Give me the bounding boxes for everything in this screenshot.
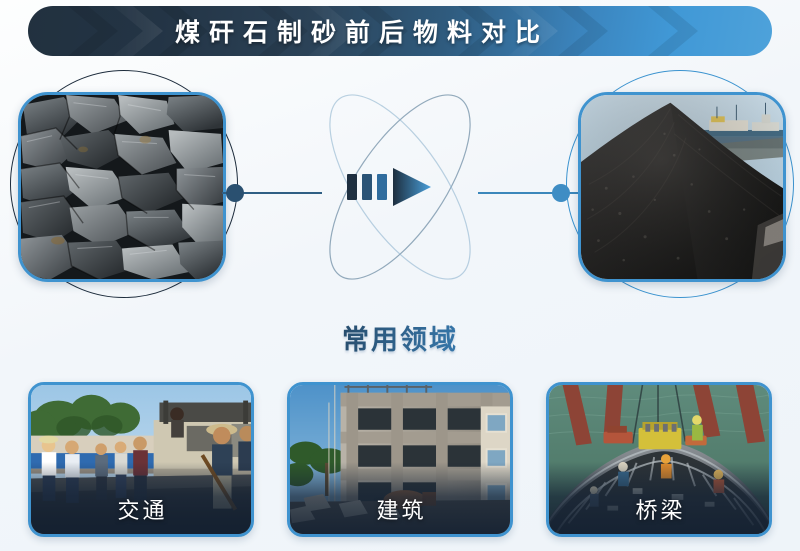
application-label: 桥梁	[549, 493, 769, 525]
before-after-comparison	[0, 62, 800, 312]
application-card-transportation[interactable]: 交通	[28, 382, 254, 537]
application-card-construction[interactable]: 建筑	[287, 382, 513, 537]
title-banner: 煤矸石制砂前后物料对比	[28, 6, 772, 56]
application-label: 交通	[31, 493, 251, 525]
coal-gangue-raw-rocks-icon	[21, 95, 223, 280]
page-title: 煤矸石制砂前后物料对比	[28, 6, 772, 56]
processed-black-sand-pile-icon	[581, 95, 783, 280]
after-photo-card	[578, 92, 786, 282]
before-photo-card	[18, 92, 226, 282]
process-arrow-icon	[347, 168, 431, 206]
infographic-root: 煤矸石制砂前后物料对比	[0, 0, 800, 551]
connector-dot-right-icon	[552, 184, 570, 202]
process-transformation-decoration	[285, 78, 515, 296]
application-cards: 交通	[0, 382, 800, 542]
connector-dot-left-icon	[226, 184, 244, 202]
application-card-bridge[interactable]: 桥梁	[546, 382, 772, 537]
application-label: 建筑	[290, 493, 510, 525]
section-heading: 常用领域	[0, 318, 800, 357]
